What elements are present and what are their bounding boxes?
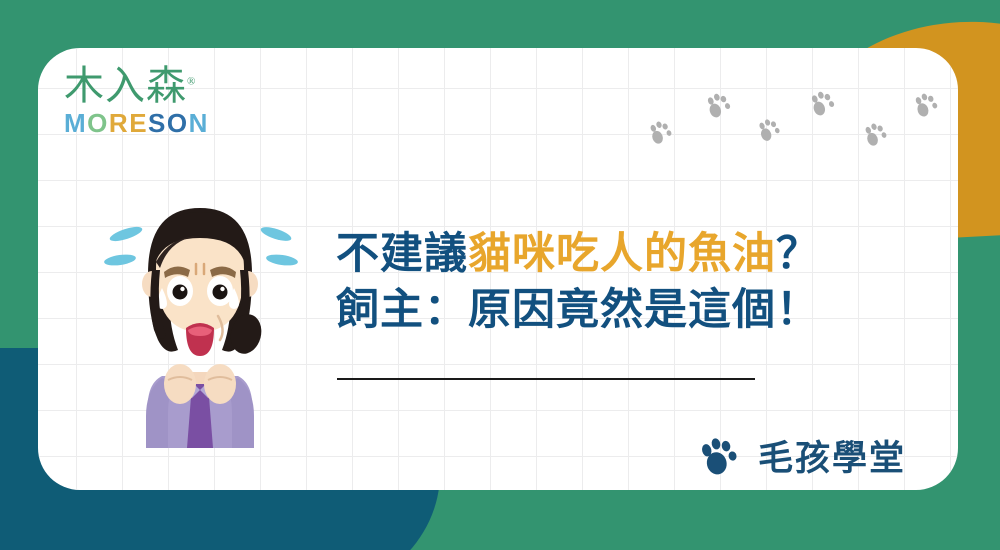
shocked-woman-illustration xyxy=(100,188,300,448)
paw-print-icon xyxy=(861,120,891,150)
brand-footer: 毛孩學堂 xyxy=(698,430,906,481)
logo-letter-m: M xyxy=(64,108,87,138)
motion-lines-left xyxy=(103,224,143,267)
title-line-1: 不建議貓咪吃人的魚油？ xyxy=(336,226,856,282)
logo-letter-e: E xyxy=(129,108,148,138)
title-line-2: 飼主：原因竟然是這個！ xyxy=(336,282,856,338)
logo-letter-o1: O xyxy=(87,108,109,138)
paw-print-icon xyxy=(703,90,735,122)
title-line1-suffix: ？ xyxy=(776,230,820,278)
title-divider xyxy=(337,378,755,380)
logo-letter-r: R xyxy=(109,108,129,138)
paw-print-icon xyxy=(807,88,839,120)
paw-print-icon xyxy=(698,435,740,477)
brand-label: 毛孩學堂 xyxy=(758,430,906,481)
motion-lines-right xyxy=(259,224,298,267)
title-line1-prefix: 不建議 xyxy=(336,230,468,278)
moreson-logo: 木入森® MORESON xyxy=(64,66,214,136)
article-title: 不建議貓咪吃人的魚油？ 飼主：原因竟然是這個！ xyxy=(336,226,856,338)
title-line1-accent: 貓咪吃人的魚油 xyxy=(468,230,776,278)
logo-letter-n: N xyxy=(189,108,209,138)
registered-mark: ® xyxy=(187,76,196,88)
logo-letter-s: S xyxy=(148,108,167,138)
paw-print-icon xyxy=(755,116,784,145)
content-card: 木入森® MORESON xyxy=(38,48,958,490)
paw-print-trail xyxy=(598,68,938,158)
paw-print-icon xyxy=(646,118,676,148)
logo-letter-o2: O xyxy=(167,108,189,138)
paw-print-icon xyxy=(911,90,942,121)
logo-cjk-text: 木入森® xyxy=(64,66,214,106)
logo-latin-text: MORESON xyxy=(64,110,214,136)
